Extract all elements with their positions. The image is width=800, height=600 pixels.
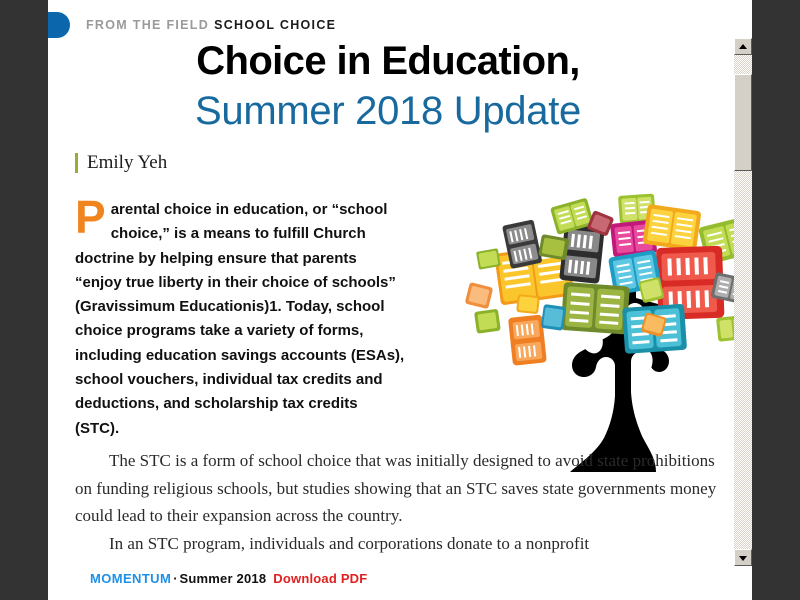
article-paragraph-3: In an STC program, individuals and corpo…	[75, 530, 730, 558]
kicker-topic-label: SCHOOL CHOICE	[214, 18, 336, 32]
download-pdf-link[interactable]: Download PDF	[273, 571, 367, 586]
article-body: Parental choice in education, or “school…	[75, 198, 730, 557]
scroll-up-button[interactable]	[734, 38, 752, 55]
lede-text: arental choice in education, or “school …	[75, 201, 404, 437]
article-page: FROM THE FIELDSCHOOL CHOICE Choice in Ed…	[48, 0, 752, 600]
footer-brand-link[interactable]: MOMENTUM	[90, 571, 171, 586]
article-lede: Parental choice in education, or “school…	[75, 198, 405, 441]
headline-line-1: Choice in Education,	[48, 38, 728, 85]
footer-issue-label: Summer 2018	[180, 571, 267, 586]
page-title: Choice in Education, Summer 2018 Update	[48, 38, 728, 137]
headline-line-2: Summer 2018 Update	[48, 85, 728, 137]
chevron-down-icon	[739, 556, 747, 561]
footer-separator: ·	[173, 571, 177, 586]
byline-accent-bar	[75, 153, 78, 173]
article-paragraph-2: The STC is a form of school choice that …	[75, 447, 730, 530]
article-footer-bar: MOMENTUM·Summer 2018Download PDF	[48, 564, 752, 600]
scrollbar-track[interactable]	[734, 55, 752, 549]
window-chrome-right	[752, 0, 800, 600]
kicker-text: FROM THE FIELDSCHOOL CHOICE	[86, 18, 336, 32]
vertical-scrollbar[interactable]	[734, 38, 752, 566]
article-kicker: FROM THE FIELDSCHOOL CHOICE	[48, 12, 336, 38]
drop-cap: P	[75, 198, 111, 236]
window-chrome-left	[0, 0, 48, 600]
scroll-down-button[interactable]	[734, 549, 752, 566]
chevron-up-icon	[739, 44, 747, 49]
byline: Emily Yeh	[75, 152, 167, 174]
byline-author: Emily Yeh	[87, 152, 167, 174]
kicker-from-label: FROM THE FIELD	[86, 18, 209, 32]
browser-viewport: FROM THE FIELDSCHOOL CHOICE Choice in Ed…	[0, 0, 800, 600]
scrollbar-thumb[interactable]	[734, 74, 752, 171]
brand-blob-icon	[48, 12, 70, 38]
footer-meta: MOMENTUM·Summer 2018Download PDF	[90, 571, 367, 586]
